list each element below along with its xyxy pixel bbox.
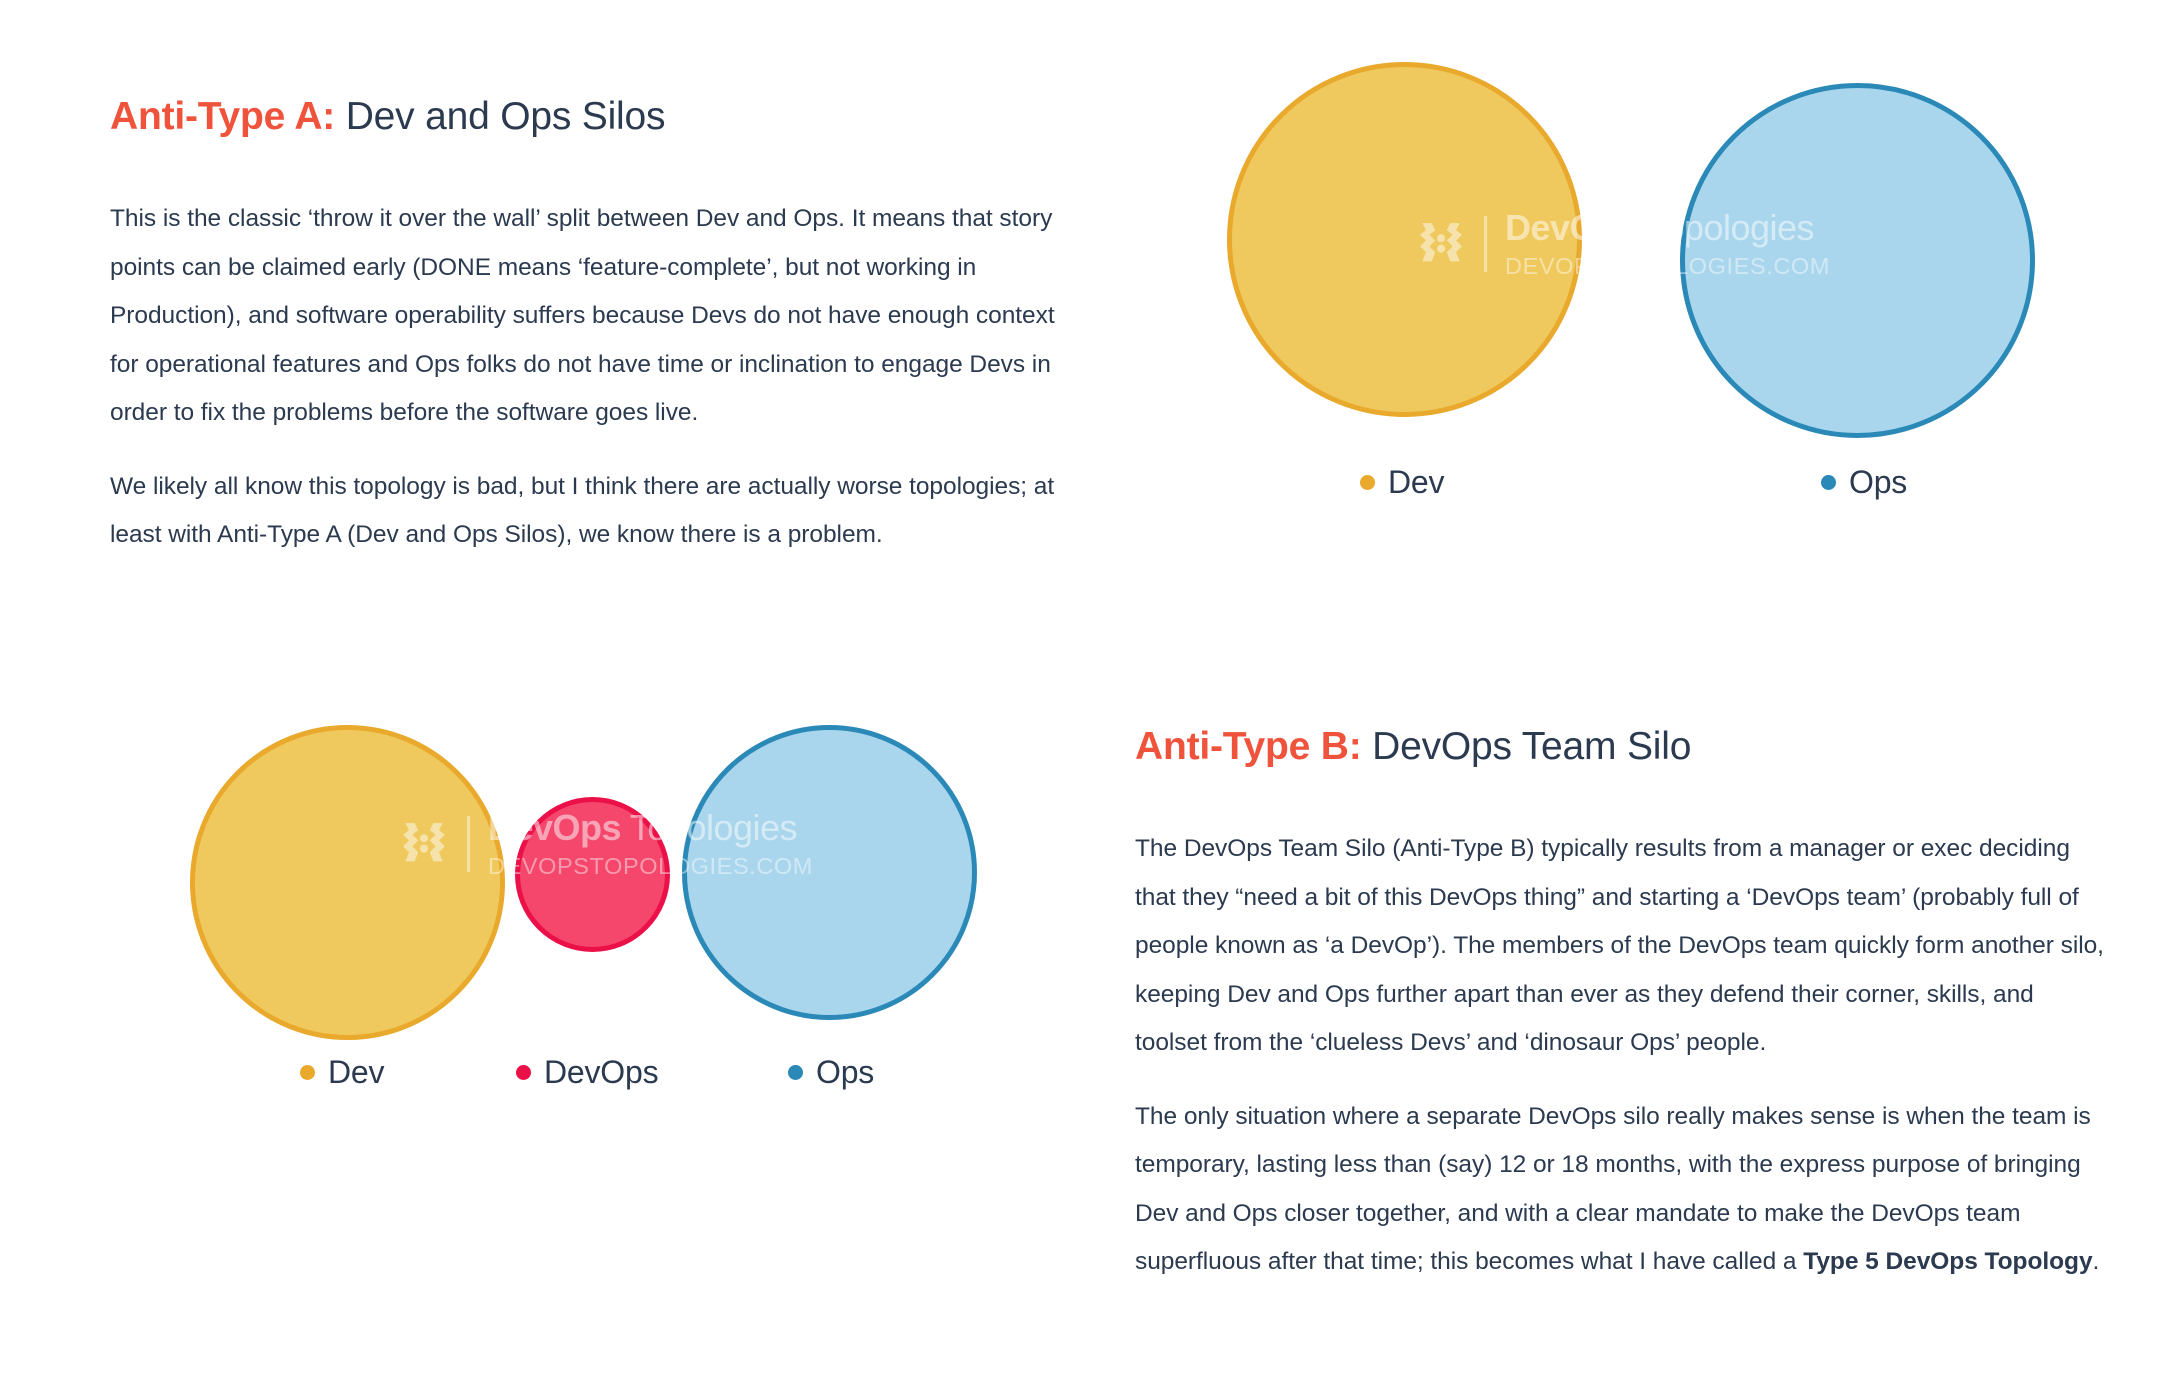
circle-dev <box>190 725 505 1040</box>
anti-type-a-paragraph-2: We likely all know this topology is bad,… <box>110 463 1085 560</box>
anti-type-a-heading-accent: Anti-Type A: <box>110 95 335 138</box>
anti-type-b-diagram: DevOps Topologies DEVOPSTOPOLOGIES.COM D… <box>150 690 1060 1160</box>
anti-type-b-heading-rest: DevOps Team Silo <box>1362 725 1692 768</box>
legend-dot-ops-icon <box>1821 475 1836 490</box>
legend-dot-dev-icon <box>300 1065 315 1080</box>
circle-devops <box>515 797 670 952</box>
anti-type-a-paragraph-1: This is the classic ‘throw it over the w… <box>110 195 1085 438</box>
circle-ops <box>1680 83 2035 438</box>
anti-type-a-heading-rest: Dev and Ops Silos <box>335 95 665 138</box>
legend-dot-ops-icon <box>788 1065 803 1080</box>
page-root: Anti-Type A: Dev and Ops Silos This is t… <box>0 0 2162 1386</box>
legend-item-dev: Dev <box>300 1054 384 1091</box>
legend-dot-devops-icon <box>516 1065 531 1080</box>
anti-type-b-paragraph-2-post: . <box>2093 1248 2100 1275</box>
anti-type-b-paragraph-2-bold: Type 5 DevOps Topology <box>1803 1248 2092 1275</box>
anti-type-b-paragraph-2: The only situation where a separate DevO… <box>1135 1093 2110 1287</box>
anti-type-b-text-block: Anti-Type B: DevOps Team Silo The DevOps… <box>1135 725 2110 1287</box>
legend-label-dev: Dev <box>328 1054 384 1091</box>
legend-item-dev: Dev <box>1360 464 1444 501</box>
circle-ops <box>682 725 977 1020</box>
legend-item-devops: DevOps <box>516 1054 658 1091</box>
anti-type-a-heading: Anti-Type A: Dev and Ops Silos <box>110 95 1085 139</box>
anti-type-b-heading-accent: Anti-Type B: <box>1135 725 1362 768</box>
anti-type-a-diagram: DevOps Topologies DEVOPSTOPOLOGIES.COM D… <box>1180 30 2090 530</box>
circle-dev <box>1227 62 1582 417</box>
legend-item-ops: Ops <box>1821 464 1907 501</box>
legend-label-dev: Dev <box>1388 464 1444 501</box>
anti-type-a-text-block: Anti-Type A: Dev and Ops Silos This is t… <box>110 95 1085 560</box>
anti-type-b-heading: Anti-Type B: DevOps Team Silo <box>1135 725 2110 769</box>
anti-type-b-paragraph-1: The DevOps Team Silo (Anti-Type B) typic… <box>1135 825 2110 1068</box>
legend-label-ops: Ops <box>816 1054 874 1091</box>
legend-item-ops: Ops <box>788 1054 874 1091</box>
legend-label-devops: DevOps <box>544 1054 658 1091</box>
legend-dot-dev-icon <box>1360 475 1375 490</box>
legend-label-ops: Ops <box>1849 464 1907 501</box>
